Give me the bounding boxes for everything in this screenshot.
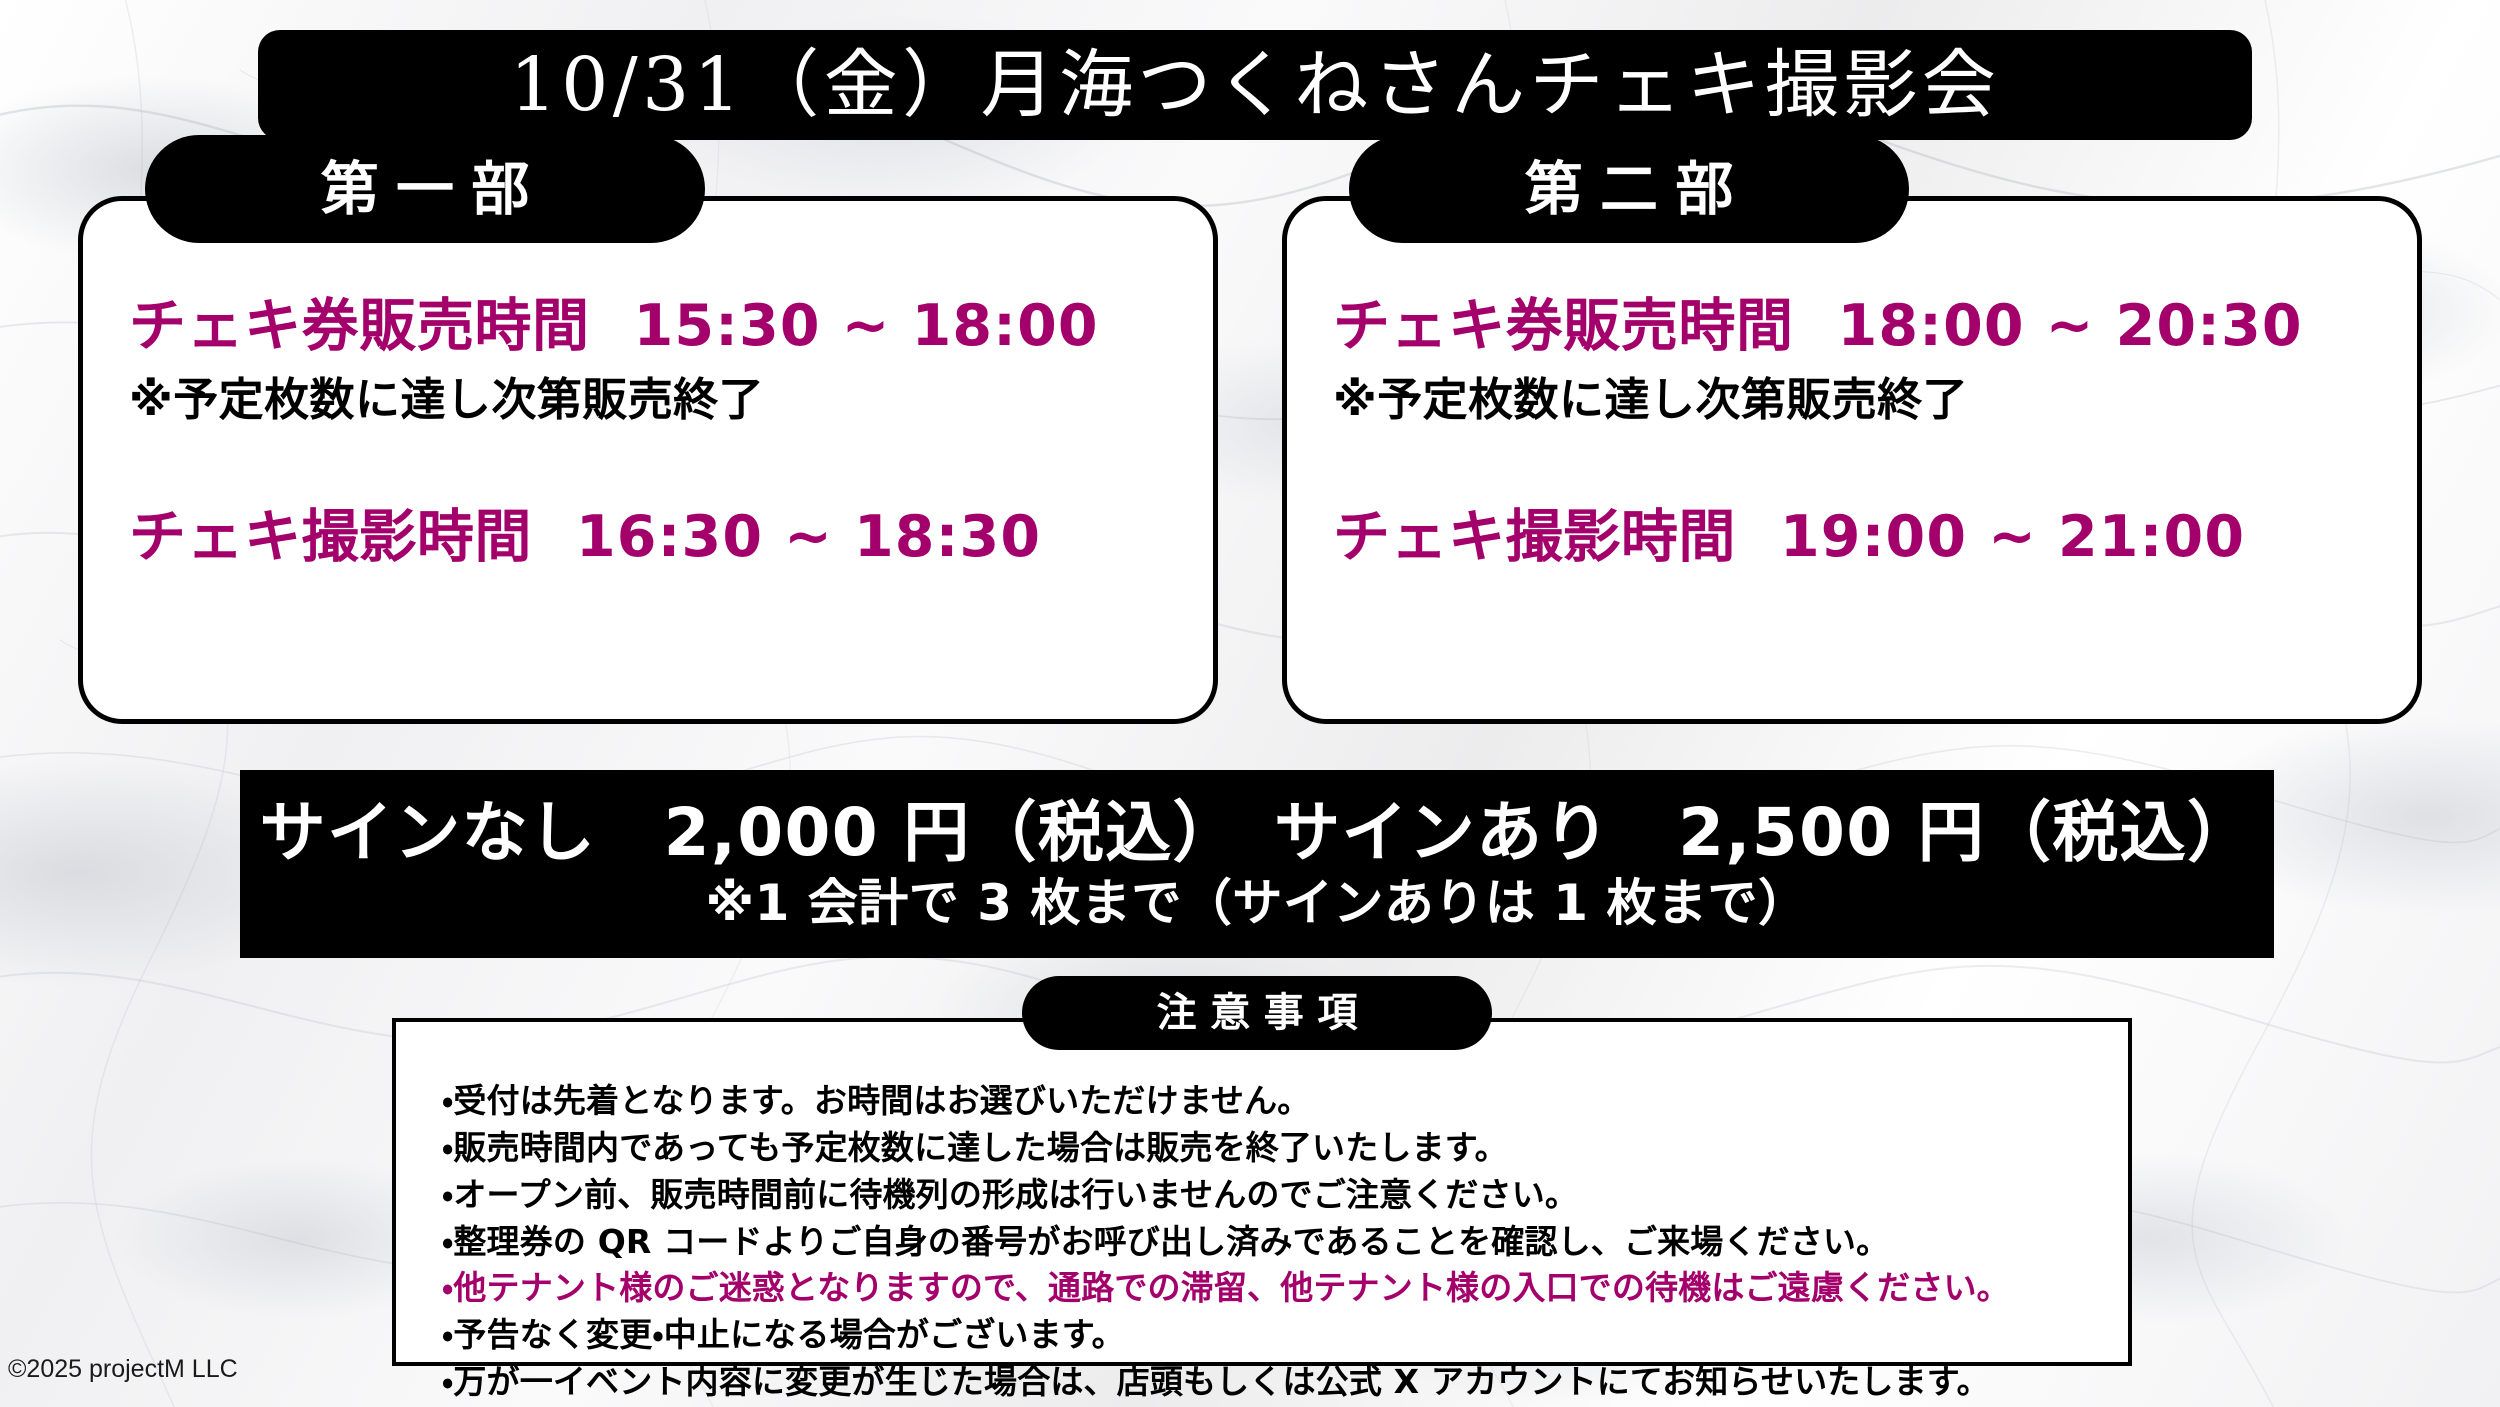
note-item: ・予告なく変更・中止になる場合がございます。 (442, 1312, 2102, 1359)
shoot-time-value-2: 19:00 ~ 21:00 (1780, 508, 2245, 568)
sale-time-label-2: チェキ券販売時間 (1333, 297, 1794, 357)
spacer-1 (129, 428, 1179, 508)
sale-time-label-1: チェキ券販売時間 (129, 297, 590, 357)
sale-time-row-2: チェキ券販売時間 18:00 ~ 20:30 (1333, 297, 2383, 357)
price-main-text: サインなし 2,000 円（税込） サインあり 2,500 円（税込） (260, 797, 2255, 870)
title-banner: 10/31（金）月海つくねさんチェキ撮影会 (258, 30, 2252, 140)
price-bar: サインなし 2,000 円（税込） サインあり 2,500 円（税込） ※1 会… (240, 770, 2274, 958)
shoot-time-label-1: チェキ撮影時間 (129, 508, 532, 568)
sale-time-note-1: ※予定枚数に達し次第販売終了 (129, 363, 1179, 428)
notes-list: ・受付は先着となります。お時間はお選びいただけません。・販売時間内であっても予定… (442, 1078, 2102, 1406)
shoot-time-row-2: チェキ撮影時間 19:00 ~ 21:00 (1333, 508, 2383, 568)
note-item: ・他テナント様のご迷惑となりますので、通路での滞留、他テナント様の入口での待機は… (442, 1265, 2102, 1312)
notes-badge: 注意事項 (1022, 976, 1492, 1050)
sale-time-row-1: チェキ券販売時間 15:30 ~ 18:00 (129, 297, 1179, 357)
shoot-time-value-1: 16:30 ~ 18:30 (576, 508, 1041, 568)
note-item: ・整理券の QR コードよりご自身の番号がお呼び出し済みであることを確認し、ご来… (442, 1219, 2102, 1266)
poster-root: 10/31（金）月海つくねさんチェキ撮影会 第一部 チェキ券販売時間 15:30… (0, 0, 2500, 1407)
sale-time-value-1: 15:30 ~ 18:00 (634, 297, 1099, 357)
part-badge-label-1: 第一部 (303, 160, 547, 218)
shoot-time-label-2: チェキ撮影時間 (1333, 508, 1736, 568)
part-badge-1: 第一部 (145, 135, 705, 243)
price-sub-text: ※1 会計で 3 枚まで（サインありは 1 枚まで） (705, 876, 1808, 931)
page-title: 10/31（金）月海つくねさんチェキ撮影会 (510, 48, 2001, 122)
part-card-1: 第一部 チェキ券販売時間 15:30 ~ 18:00 ※予定枚数に達し次第販売終… (78, 196, 1218, 724)
spacer-2 (1333, 428, 2383, 508)
note-item: ・万が一イベント内容に変更が生じた場合は、店頭もしくは公式 X アカウントにてお… (442, 1359, 2102, 1406)
notes-badge-label: 注意事項 (1143, 993, 1371, 1033)
sale-time-value-2: 18:00 ~ 20:30 (1838, 297, 2303, 357)
note-item: ・オープン前、販売時間前に待機列の形成は行いませんのでご注意ください。 (442, 1172, 2102, 1219)
part-card-body-2: チェキ券販売時間 18:00 ~ 20:30 ※予定枚数に達し次第販売終了 チェ… (1333, 297, 2383, 568)
part-badge-2: 第二部 (1349, 135, 1909, 243)
part-card-body-1: チェキ券販売時間 15:30 ~ 18:00 ※予定枚数に達し次第販売終了 チェ… (129, 297, 1179, 568)
shoot-time-row-1: チェキ撮影時間 16:30 ~ 18:30 (129, 508, 1179, 568)
note-item: ・販売時間内であっても予定枚数に達した場合は販売を終了いたします。 (442, 1125, 2102, 1172)
sale-time-note-2: ※予定枚数に達し次第販売終了 (1333, 363, 2383, 428)
copyright-text: ©2025 projectM LLC (8, 1355, 238, 1384)
part-badge-label-2: 第二部 (1507, 160, 1751, 218)
note-item: ・受付は先着となります。お時間はお選びいただけません。 (442, 1078, 2102, 1125)
part-card-2: 第二部 チェキ券販売時間 18:00 ~ 20:30 ※予定枚数に達し次第販売終… (1282, 196, 2422, 724)
